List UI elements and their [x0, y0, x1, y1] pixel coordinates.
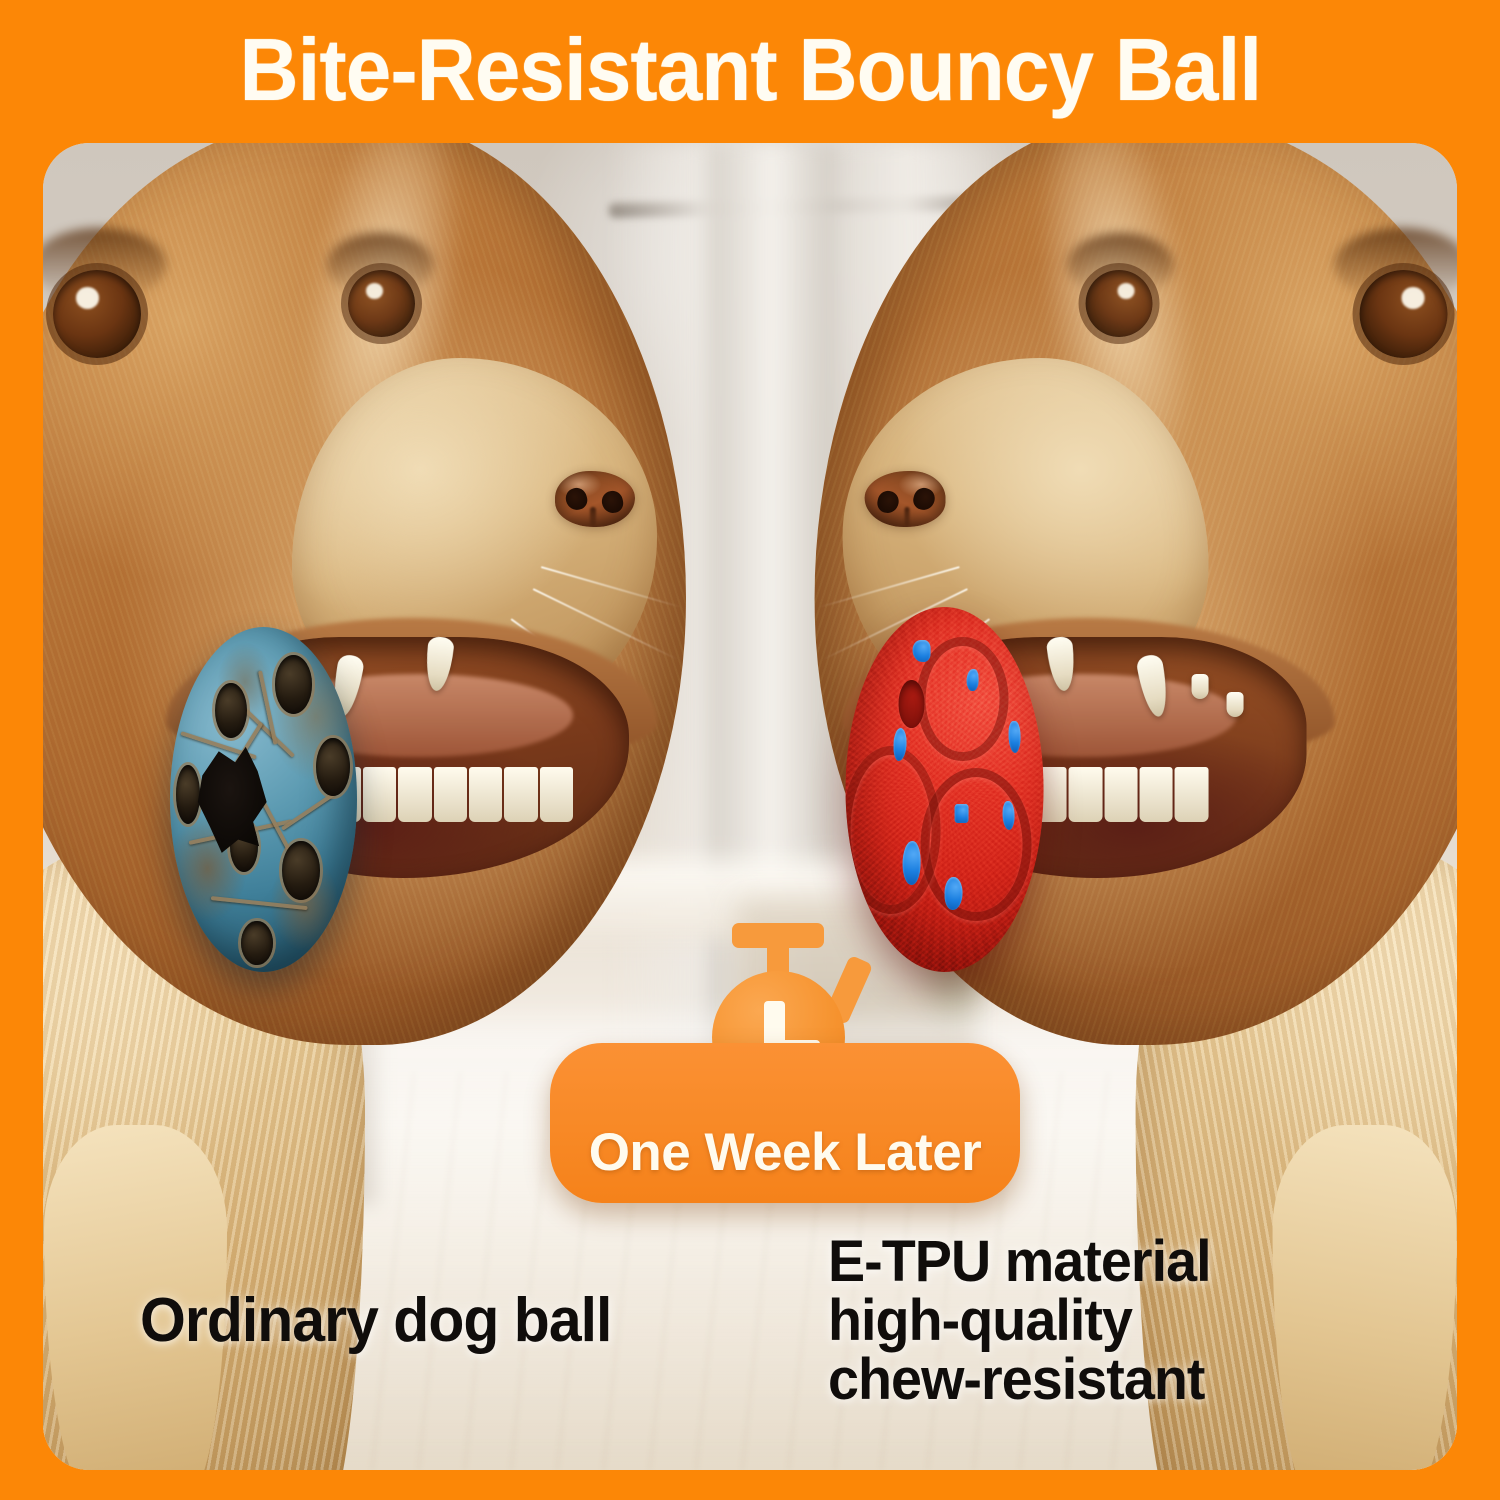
ball-hole — [241, 921, 273, 966]
dog-left-head — [43, 143, 686, 1045]
dog-right-eye-near — [1359, 270, 1447, 358]
nostril — [876, 490, 900, 516]
dog-left — [43, 143, 792, 1470]
caption-etpu-line-1: E-TPU material — [828, 1232, 1211, 1291]
blue-speckle — [913, 640, 931, 662]
dog-right-front-leg — [1273, 1125, 1456, 1470]
title-bar: Bite-Resistant Bouncy Ball — [0, 0, 1500, 140]
eye-glint — [1117, 283, 1134, 299]
blue-speckle — [954, 804, 968, 822]
ball-hole — [275, 655, 312, 714]
badge-label: One Week Later — [589, 1122, 982, 1183]
page-title: Bite-Resistant Bouncy Ball — [239, 19, 1261, 121]
one-week-later-badge: One Week Later — [550, 923, 1020, 1213]
dog-left-eye-near — [53, 270, 141, 358]
blue-speckle — [1022, 640, 1030, 666]
incisor-tooth — [1226, 692, 1243, 717]
eye-glint — [366, 283, 383, 299]
ordinary-blue-ball — [170, 627, 357, 972]
caption-ordinary-ball: Ordinary dog ball — [140, 1285, 611, 1356]
ball-hole — [282, 841, 319, 900]
dog-right-eye-far — [1085, 270, 1152, 337]
comparison-photo: Ordinary dog ball E-TPU material high-qu… — [43, 143, 1457, 1470]
caption-etpu-line-3: chew-resistant — [828, 1350, 1211, 1409]
nostril — [600, 490, 624, 516]
blue-speckle — [966, 669, 978, 691]
nostril — [563, 486, 589, 513]
nose-philtrum — [904, 507, 910, 526]
badge-pill: One Week Later — [550, 1043, 1020, 1203]
ball-hole — [176, 765, 200, 824]
ball-hole — [316, 738, 350, 797]
etpu-red-ball — [845, 607, 1044, 972]
ball-hole — [215, 683, 247, 738]
ball-dimple — [899, 680, 925, 727]
eye-glint — [1401, 287, 1424, 308]
dog-right-nose — [865, 471, 945, 527]
dog-left-eye-far — [348, 270, 415, 337]
blue-speckle — [1002, 801, 1014, 830]
ball-groove — [845, 746, 940, 914]
eye-glint — [76, 287, 99, 308]
blue-speckle — [944, 877, 962, 910]
incisor-tooth — [1191, 674, 1208, 699]
caption-etpu-line-2: high-quality — [828, 1291, 1211, 1350]
dog-left-nose — [555, 471, 635, 527]
caption-etpu-ball: E-TPU material high-quality chew-resista… — [828, 1232, 1211, 1409]
nose-philtrum — [590, 507, 596, 526]
nostril — [911, 486, 937, 513]
infographic-root: Bite-Resistant Bouncy Ball — [0, 0, 1500, 1500]
blue-speckle — [903, 841, 921, 885]
